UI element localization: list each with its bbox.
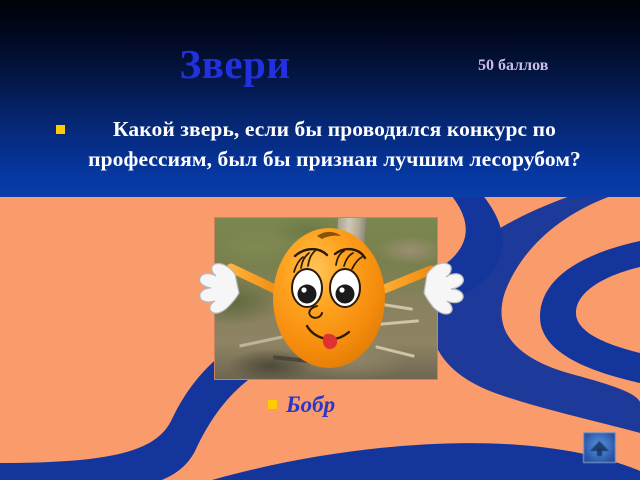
title-row: Звери 50 баллов [0, 40, 640, 96]
answer-illustration-photo [214, 217, 438, 380]
page-title: Звери [0, 40, 470, 88]
points-badge: 50 баллов [478, 57, 548, 75]
slide-banner: Звери 50 баллов Какой зверь, если бы про… [0, 0, 640, 197]
quiz-slide: Звери 50 баллов Какой зверь, если бы про… [0, 0, 640, 480]
question-text: Какой зверь, если бы проводился конкурс … [73, 114, 596, 174]
answer-block: Бобр [268, 391, 335, 419]
home-nav-button[interactable] [583, 432, 616, 463]
ribbon-path-right [540, 241, 640, 383]
triangle-up-icon [584, 433, 615, 462]
answer-text: Бобр [286, 391, 335, 419]
ribbon-path-back [431, 197, 640, 433]
square-bullet-icon [268, 400, 277, 409]
square-bullet-icon [56, 125, 65, 134]
question-block: Какой зверь, если бы проводился конкурс … [56, 114, 596, 174]
